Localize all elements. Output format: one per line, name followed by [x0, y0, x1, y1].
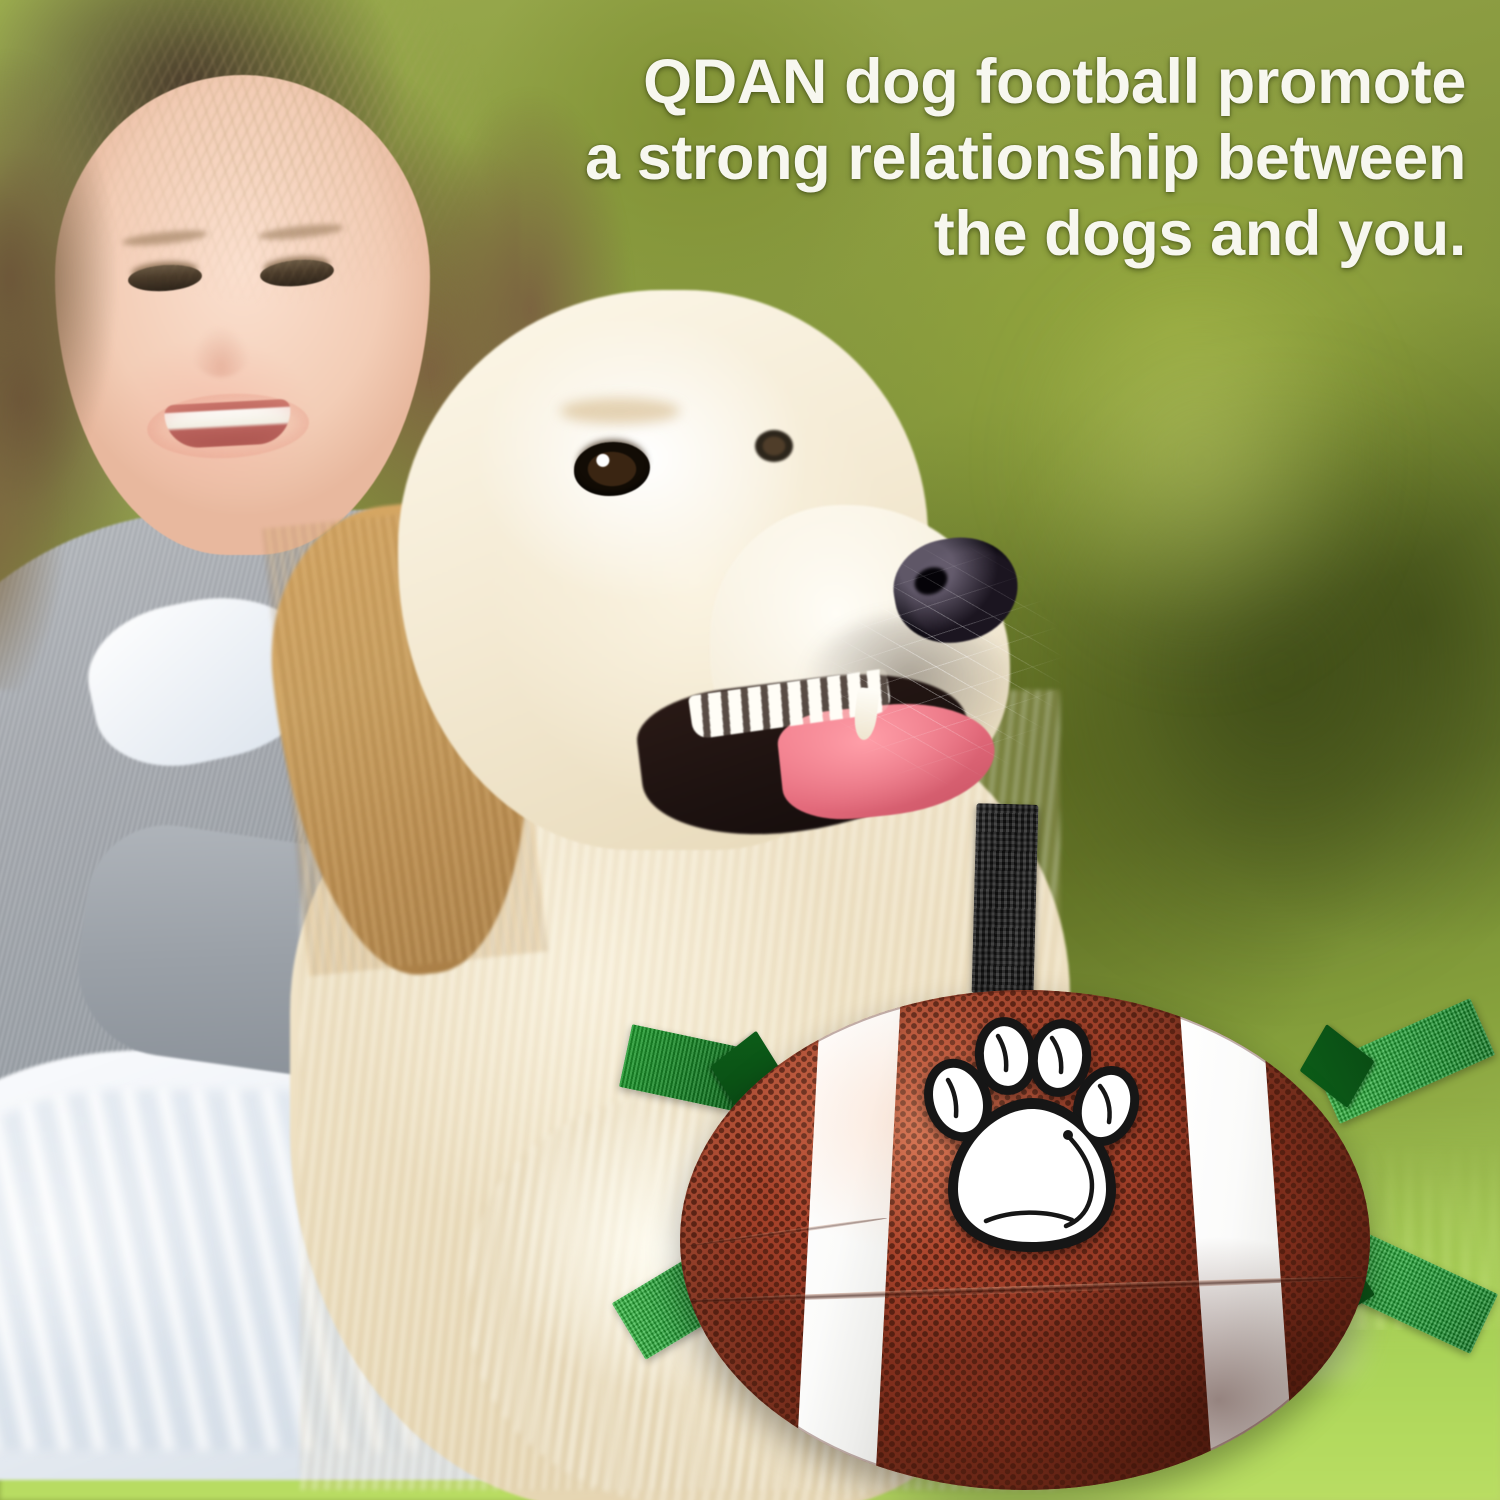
- headline-line-1: QDAN dog football promote: [566, 44, 1466, 120]
- dog-brow: [560, 398, 680, 424]
- headline-line-2: a strong relationship between: [566, 120, 1466, 196]
- headline-line-3: the dogs and you.: [566, 196, 1466, 272]
- headline-text: QDAN dog football promote a strong relat…: [566, 44, 1466, 272]
- paw-print-icon: [920, 1008, 1140, 1270]
- dog-whiskers: [830, 500, 1110, 800]
- handle-strap-black: [972, 803, 1039, 995]
- dog-eye-right: [755, 430, 793, 462]
- dog-football-toy: [620, 790, 1500, 1500]
- product-lifestyle-image: QDAN dog football promote a strong relat…: [0, 0, 1500, 1500]
